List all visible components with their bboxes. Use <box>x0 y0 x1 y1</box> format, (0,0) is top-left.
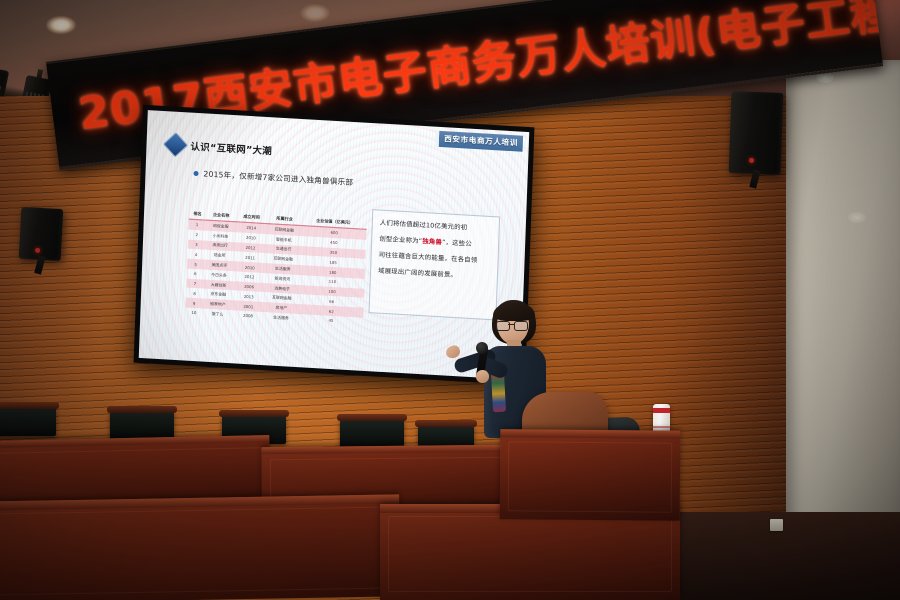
note-line: 人们将估值超过10亿美元的初 <box>380 219 492 235</box>
ceiling-downlight <box>300 4 330 22</box>
auditorium-chair <box>0 406 56 436</box>
auditorium-chair <box>340 418 404 448</box>
slide-bullet: 2015年，仅新增7家公司进入独角兽俱乐部 <box>193 168 353 188</box>
wall-outlet <box>770 519 783 531</box>
column-light-reflection <box>848 212 866 223</box>
note-highlight-term: 独角兽 <box>422 237 442 246</box>
thermos-red-stripe <box>653 426 670 428</box>
microphone-head <box>476 342 488 354</box>
slide-title: 认识“互联网”大潮 <box>166 135 272 159</box>
auditorium-photo: 2017西安市电子商务万人培训(电子工程学院) 西安市电商万人培训 认识“互联网… <box>0 0 900 600</box>
presenter-right-hand <box>476 370 489 383</box>
glasses-icon <box>496 321 528 330</box>
slide-title-text: 认识“互联网”大潮 <box>190 139 272 158</box>
presenter-podium-desk <box>500 429 681 521</box>
unicorn-company-table: 排名企业名称成立时间所属行业企业估值（亿美元） 1蚂蚁金服2014互联网金融60… <box>185 209 367 328</box>
auditorium-chair <box>110 410 174 440</box>
auditorium-desk-front <box>0 494 401 600</box>
diamond-bullet-icon <box>163 132 188 157</box>
slide-bullet-text: 2015年，仅新增7家公司进入独角兽俱乐部 <box>203 168 353 188</box>
table-cell: 10 <box>185 308 202 319</box>
note-line: 域展现出广阔的发展前景。 <box>378 266 490 282</box>
note-line: 司往往蕴含巨大的能量，在各自领 <box>378 250 490 266</box>
presenter-fringe <box>493 302 535 321</box>
table-cell: 饿了么 <box>202 309 233 321</box>
note-line: 创型企业称为“独角兽”，这些公 <box>379 235 491 251</box>
table-cell: 2008 <box>233 310 264 322</box>
wall-speaker-right <box>729 91 784 175</box>
screen-corner-tag: 西安市电商万人培训 <box>436 131 523 152</box>
thermos-red-band <box>653 408 670 413</box>
bullet-dot-icon <box>193 171 198 176</box>
table-cell: 生活服务 <box>263 312 299 324</box>
wall-speaker-left <box>19 207 64 261</box>
